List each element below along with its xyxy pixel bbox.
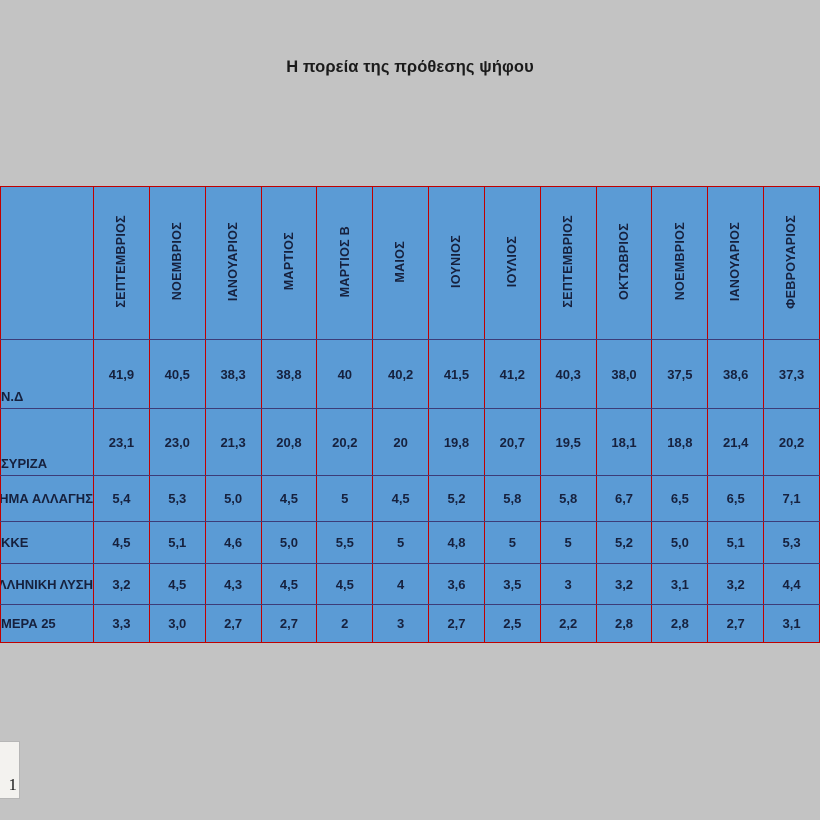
column-header[interactable]: ΜΑΡΤΙΟΣ	[261, 187, 317, 340]
data-cell[interactable]: 5	[540, 522, 596, 564]
row-label: Ν.Δ	[1, 340, 94, 409]
column-header-label: ΙΑΝΟΥΑΡΙΟΣ	[729, 222, 742, 301]
data-cell[interactable]: 41,9	[94, 340, 150, 409]
data-cell[interactable]: 21,3	[205, 409, 261, 476]
column-header-label: ΦΕΒΡΟΥΑΡΙΟΣ	[785, 215, 798, 309]
column-header-label: ΜΑΙΟΣ	[394, 241, 407, 283]
row-label: ΚΚΕ	[1, 522, 94, 564]
data-cell[interactable]: 4,5	[317, 564, 373, 605]
data-cell[interactable]: 4,5	[261, 476, 317, 522]
poll-table-container: ΣΕΠΤΕΜΒΡΙΟΣ ΝΟΕΜΒΡΙΟΣ ΙΑΝΟΥΑΡΙΟΣ ΜΑΡΤΙΟΣ…	[0, 186, 820, 643]
column-header[interactable]: ΣΕΠΤΕΜΒΡΙΟΣ	[540, 187, 596, 340]
data-cell[interactable]: 4,4	[764, 564, 820, 605]
data-cell[interactable]: 40,2	[373, 340, 429, 409]
table-row: ΚΙΝΗΜΑ ΑΛΛΑΓΗΣ 5,4 5,3 5,0 4,5 5 4,5 5,2…	[1, 476, 820, 522]
row-label: ΜΕΡΑ 25	[1, 605, 94, 643]
data-cell[interactable]: 38,0	[596, 340, 652, 409]
data-cell[interactable]: 5,2	[429, 476, 485, 522]
data-cell[interactable]: 41,2	[484, 340, 540, 409]
data-cell[interactable]: 2,2	[540, 605, 596, 643]
data-cell[interactable]: 3,1	[652, 564, 708, 605]
data-cell[interactable]: 20,8	[261, 409, 317, 476]
column-header[interactable]: ΣΕΠΤΕΜΒΡΙΟΣ	[94, 187, 150, 340]
data-cell[interactable]: 18,1	[596, 409, 652, 476]
data-cell[interactable]: 4,5	[373, 476, 429, 522]
data-cell[interactable]: 37,5	[652, 340, 708, 409]
poll-table: ΣΕΠΤΕΜΒΡΙΟΣ ΝΟΕΜΒΡΙΟΣ ΙΑΝΟΥΑΡΙΟΣ ΜΑΡΤΙΟΣ…	[0, 186, 820, 643]
corner-panel[interactable]: 1	[0, 741, 20, 799]
data-cell[interactable]: 6,7	[596, 476, 652, 522]
data-cell[interactable]: 4,5	[261, 564, 317, 605]
data-cell[interactable]: 3	[373, 605, 429, 643]
data-cell[interactable]: 6,5	[652, 476, 708, 522]
corner-panel-text: 1	[9, 776, 18, 793]
data-cell[interactable]: 3,2	[94, 564, 150, 605]
table-row: ΕΛΛΗΝΙΚΗ ΛΥΣΗ 3,2 4,5 4,3 4,5 4,5 4 3,6 …	[1, 564, 820, 605]
data-cell[interactable]: 2,7	[261, 605, 317, 643]
data-cell[interactable]: 20,2	[317, 409, 373, 476]
data-cell[interactable]: 5,1	[149, 522, 205, 564]
column-header[interactable]: ΟΚΤΩΒΡΙΟΣ	[596, 187, 652, 340]
column-header-label: ΜΑΡΤΙΟΣ Β	[339, 226, 352, 297]
table-row: Ν.Δ 41,9 40,5 38,3 38,8 40 40,2 41,5 41,…	[1, 340, 820, 409]
column-header[interactable]: ΝΟΕΜΒΡΙΟΣ	[652, 187, 708, 340]
data-cell[interactable]: 2,5	[484, 605, 540, 643]
data-cell[interactable]: 5,0	[652, 522, 708, 564]
data-cell[interactable]: 3	[540, 564, 596, 605]
data-cell[interactable]: 5,3	[764, 522, 820, 564]
data-cell[interactable]: 2,8	[596, 605, 652, 643]
column-header-label: ΝΟΕΜΒΡΙΟΣ	[674, 222, 687, 300]
column-header[interactable]: ΙΑΝΟΥΑΡΙΟΣ	[708, 187, 764, 340]
data-cell[interactable]: 20,7	[484, 409, 540, 476]
column-header[interactable]: ΦΕΒΡΟΥΑΡΙΟΣ	[764, 187, 820, 340]
data-cell[interactable]: 5	[317, 476, 373, 522]
table-corner-header	[1, 187, 94, 340]
data-cell[interactable]: 3,2	[708, 564, 764, 605]
row-label: ΚΙΝΗΜΑ ΑΛΛΑΓΗΣ	[1, 476, 94, 522]
column-header-label: ΜΑΡΤΙΟΣ	[283, 232, 296, 290]
row-label: ΕΛΛΗΝΙΚΗ ΛΥΣΗ	[1, 564, 94, 605]
row-label-text: ΣΥΡΙΖΑ	[1, 456, 93, 471]
data-cell[interactable]: 38,3	[205, 340, 261, 409]
data-cell[interactable]: 2,7	[429, 605, 485, 643]
data-cell[interactable]: 4,6	[205, 522, 261, 564]
page-root: Η πορεία της πρόθεσης ψήφου ΣΕΠΤΕΜΒΡΙΟΣ …	[0, 0, 820, 820]
data-cell[interactable]: 20	[373, 409, 429, 476]
table-row: ΣΥΡΙΖΑ 23,1 23,0 21,3 20,8 20,2 20 19,8 …	[1, 409, 820, 476]
data-cell[interactable]: 5	[484, 522, 540, 564]
table-header-row: ΣΕΠΤΕΜΒΡΙΟΣ ΝΟΕΜΒΡΙΟΣ ΙΑΝΟΥΑΡΙΟΣ ΜΑΡΤΙΟΣ…	[1, 187, 820, 340]
data-cell[interactable]: 4,5	[149, 564, 205, 605]
column-header-label: ΙΟΥΝΙΟΣ	[450, 235, 463, 288]
data-cell[interactable]: 3,0	[149, 605, 205, 643]
data-cell[interactable]: 19,8	[429, 409, 485, 476]
row-label-text: ΚΙΝΗΜΑ ΑΛΛΑΓΗΣ	[1, 491, 93, 506]
column-header-label: ΙΟΥΛΙΟΣ	[506, 236, 519, 287]
row-label-text: ΜΕΡΑ 25	[1, 616, 93, 631]
data-cell[interactable]: 40	[317, 340, 373, 409]
data-cell[interactable]: 5,8	[540, 476, 596, 522]
data-cell[interactable]: 3,6	[429, 564, 485, 605]
data-cell[interactable]: 5,8	[484, 476, 540, 522]
data-cell[interactable]: 3,1	[764, 605, 820, 643]
data-cell[interactable]: 4,8	[429, 522, 485, 564]
data-cell[interactable]: 3,3	[94, 605, 150, 643]
data-cell[interactable]: 19,5	[540, 409, 596, 476]
data-cell[interactable]: 2	[317, 605, 373, 643]
data-cell[interactable]: 21,4	[708, 409, 764, 476]
data-cell[interactable]: 7,1	[764, 476, 820, 522]
data-cell[interactable]: 4,5	[94, 522, 150, 564]
column-header[interactable]: ΜΑΙΟΣ	[373, 187, 429, 340]
column-header-label: ΟΚΤΩΒΡΙΟΣ	[618, 223, 631, 300]
row-label: ΣΥΡΙΖΑ	[1, 409, 94, 476]
data-cell[interactable]: 2,7	[708, 605, 764, 643]
data-cell[interactable]: 23,1	[94, 409, 150, 476]
data-cell[interactable]: 40,3	[540, 340, 596, 409]
data-cell[interactable]: 4	[373, 564, 429, 605]
data-cell[interactable]: 2,8	[652, 605, 708, 643]
data-cell[interactable]: 23,0	[149, 409, 205, 476]
column-header-label: ΣΕΠΤΕΜΒΡΙΟΣ	[562, 215, 575, 308]
column-header[interactable]: ΙΟΥΝΙΟΣ	[429, 187, 485, 340]
column-header[interactable]: ΜΑΡΤΙΟΣ Β	[317, 187, 373, 340]
column-header-label: ΝΟΕΜΒΡΙΟΣ	[171, 222, 184, 300]
data-cell[interactable]: 38,6	[708, 340, 764, 409]
data-cell[interactable]: 5,0	[261, 522, 317, 564]
row-label-text: ΚΚΕ	[1, 535, 93, 550]
data-cell[interactable]: 37,3	[764, 340, 820, 409]
column-header[interactable]: ΝΟΕΜΒΡΙΟΣ	[149, 187, 205, 340]
data-cell[interactable]: 3,5	[484, 564, 540, 605]
column-header[interactable]: ΙΟΥΛΙΟΣ	[484, 187, 540, 340]
data-cell[interactable]: 18,8	[652, 409, 708, 476]
data-cell[interactable]: 5	[373, 522, 429, 564]
data-cell[interactable]: 5,4	[94, 476, 150, 522]
data-cell[interactable]: 5,5	[317, 522, 373, 564]
data-cell[interactable]: 5,3	[149, 476, 205, 522]
table-row: ΚΚΕ 4,5 5,1 4,6 5,0 5,5 5 4,8 5 5 5,2 5,…	[1, 522, 820, 564]
data-cell[interactable]: 3,2	[596, 564, 652, 605]
data-cell[interactable]: 5,2	[596, 522, 652, 564]
table-row: ΜΕΡΑ 25 3,3 3,0 2,7 2,7 2 3 2,7 2,5 2,2 …	[1, 605, 820, 643]
data-cell[interactable]: 38,8	[261, 340, 317, 409]
data-cell[interactable]: 6,5	[708, 476, 764, 522]
column-header-label: ΣΕΠΤΕΜΒΡΙΟΣ	[115, 215, 128, 308]
data-cell[interactable]: 5,1	[708, 522, 764, 564]
row-label-text: Ν.Δ	[1, 389, 93, 404]
data-cell[interactable]: 40,5	[149, 340, 205, 409]
data-cell[interactable]: 4,3	[205, 564, 261, 605]
page-title: Η πορεία της πρόθεσης ψήφου	[0, 58, 820, 77]
data-cell[interactable]: 41,5	[429, 340, 485, 409]
data-cell[interactable]: 2,7	[205, 605, 261, 643]
column-header-label: ΙΑΝΟΥΑΡΙΟΣ	[227, 222, 240, 301]
poll-table-body: ΣΕΠΤΕΜΒΡΙΟΣ ΝΟΕΜΒΡΙΟΣ ΙΑΝΟΥΑΡΙΟΣ ΜΑΡΤΙΟΣ…	[1, 187, 820, 643]
data-cell[interactable]: 20,2	[764, 409, 820, 476]
row-label-text: ΕΛΛΗΝΙΚΗ ΛΥΣΗ	[1, 577, 93, 592]
data-cell[interactable]: 5,0	[205, 476, 261, 522]
column-header[interactable]: ΙΑΝΟΥΑΡΙΟΣ	[205, 187, 261, 340]
